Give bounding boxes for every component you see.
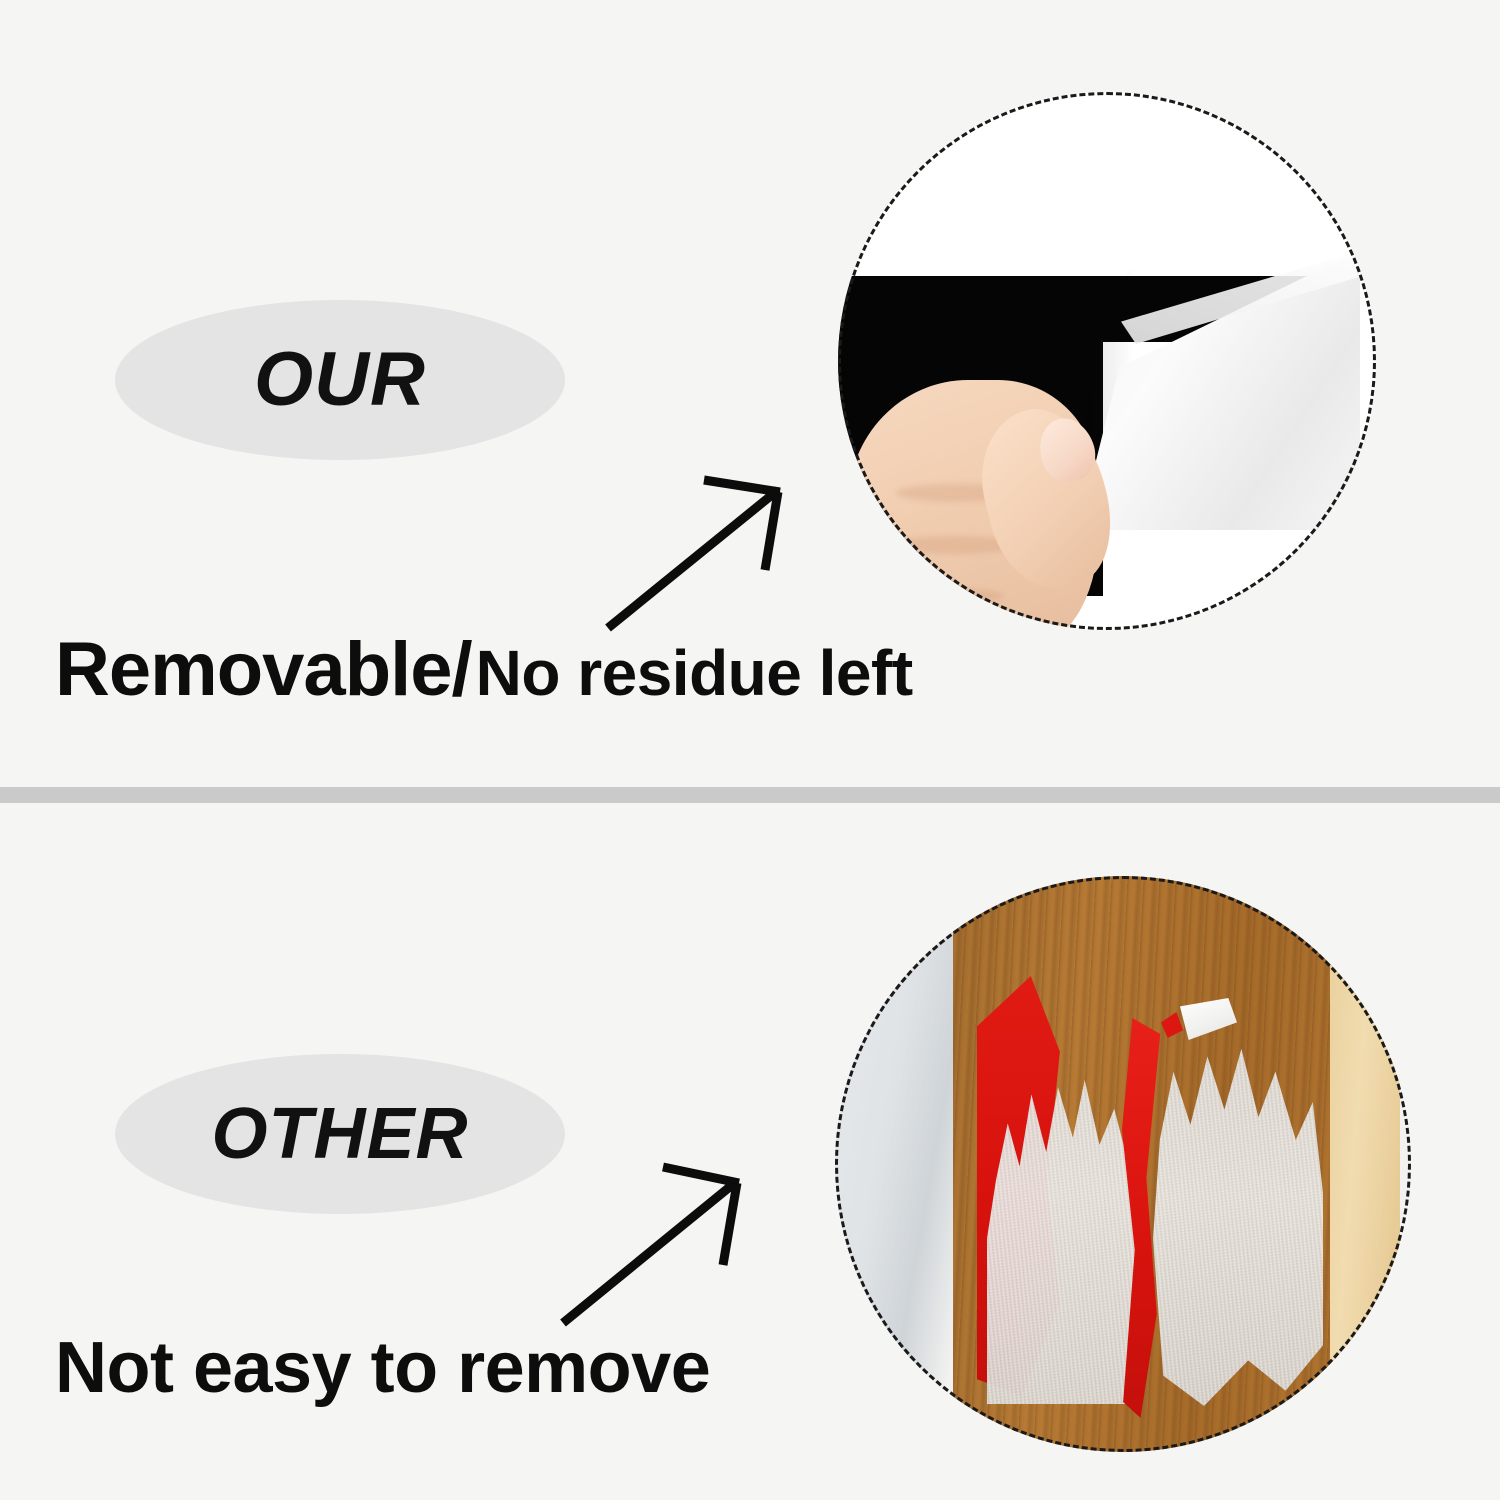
arrow-up-right-icon-other — [555, 1155, 770, 1330]
photo-our-removable — [838, 92, 1376, 630]
knuckle-crease — [884, 588, 1004, 604]
badge-our: OUR — [115, 300, 565, 460]
panel-our: OUR Removable/No residue left — [0, 0, 1500, 787]
wood-door-edge — [1330, 876, 1400, 1452]
badge-our-label: OUR — [254, 342, 426, 418]
photo-other-residue — [835, 876, 1411, 1452]
caption-removable-main: Removable/ — [55, 627, 472, 712]
badge-other-label: OTHER — [212, 1098, 469, 1170]
badge-other: OTHER — [115, 1054, 565, 1214]
comparison-infographic: OUR Removable/No residue left — [0, 0, 1500, 1500]
hand-graphic — [848, 288, 1138, 630]
caption-removable: Removable/No residue left — [55, 632, 913, 708]
arrow-up-right-icon-our — [600, 470, 810, 635]
caption-not-easy-to-remove: Not easy to remove — [55, 1332, 710, 1404]
section-divider — [0, 787, 1500, 803]
caption-removable-sub: No residue left — [476, 637, 913, 709]
